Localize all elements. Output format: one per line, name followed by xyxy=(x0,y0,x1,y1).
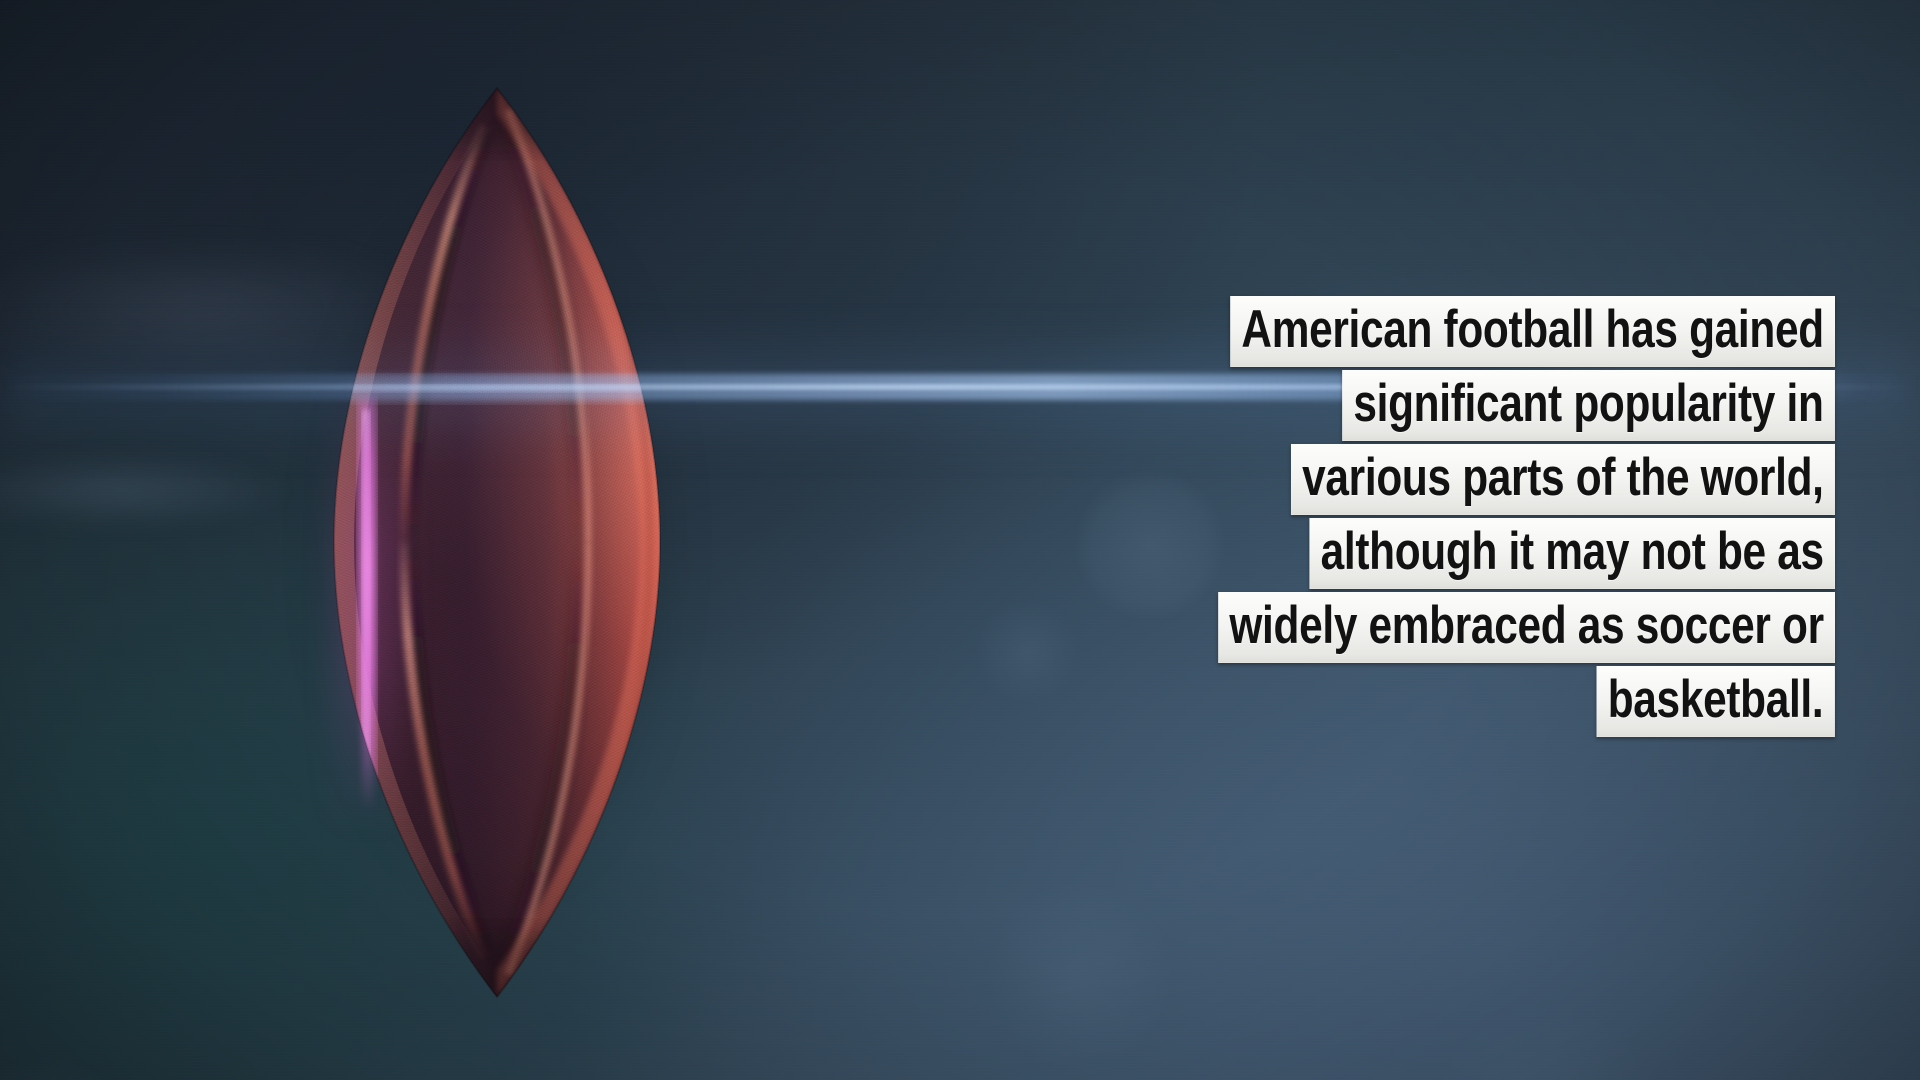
caption-line-4: although it may not be as xyxy=(1309,518,1835,589)
caption-line-5: widely embraced as soccer or xyxy=(1218,592,1835,663)
caption-line-2: significant popularity in xyxy=(1342,370,1835,441)
caption-block: American football has gained significant… xyxy=(1064,296,1835,737)
caption-line-6: basketball. xyxy=(1597,666,1835,737)
caption-line-3: various parts of the world, xyxy=(1291,444,1835,515)
video-frame: American football has gained significant… xyxy=(0,0,1920,1080)
caption-line-1: American football has gained xyxy=(1230,296,1835,367)
